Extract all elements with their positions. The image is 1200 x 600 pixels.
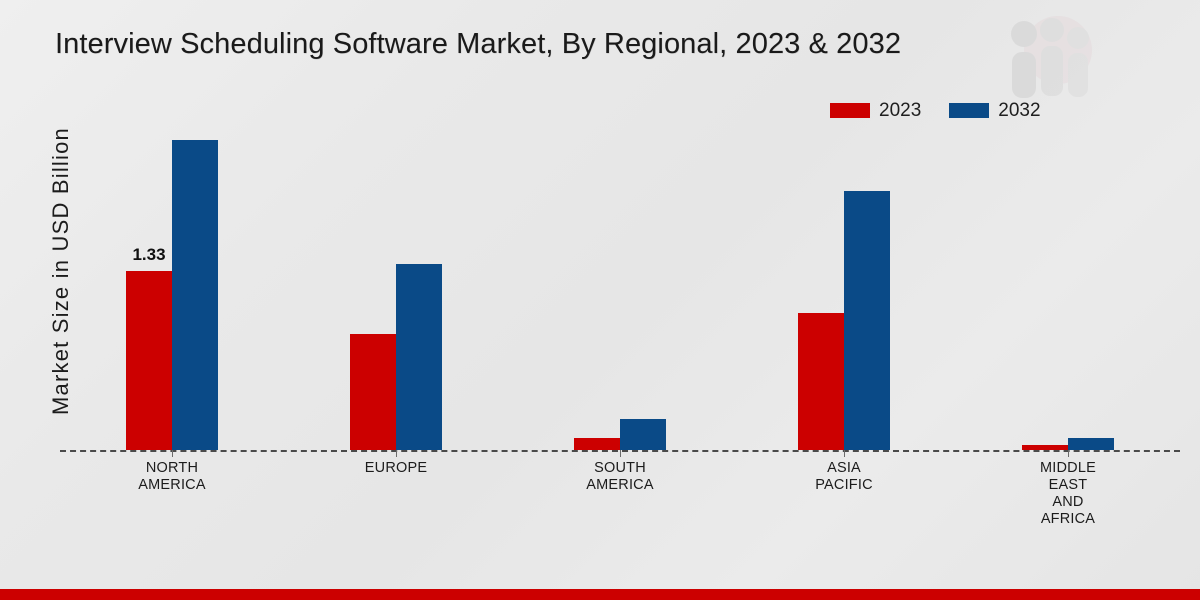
bar-group-europe: EUROPE [284, 120, 508, 450]
x-label-middle-east-and-africa: MIDDLE EAST AND AFRICA [1040, 460, 1096, 528]
x-tick-europe [396, 450, 397, 457]
legend-item-2023[interactable]: 2023 [830, 101, 921, 120]
bottom-accent-band [0, 589, 1200, 600]
bar-2023-south-america[interactable] [574, 438, 620, 450]
bar-group-north-america: 1.33 NORTH AMERICA [60, 120, 284, 450]
bar-2023-middle-east-and-africa[interactable] [1022, 445, 1068, 450]
bar-2023-asia-pacific[interactable] [798, 313, 844, 450]
brand-watermark-icon [1000, 8, 1092, 112]
x-label-asia-pacific: ASIA PACIFIC [815, 460, 873, 494]
x-label-south-america: SOUTH AMERICA [586, 460, 653, 494]
plot-area: 1.33 NORTH AMERICA EUROPE [60, 120, 1180, 450]
bar-2023-north-america[interactable]: 1.33 [126, 271, 172, 450]
bar-2032-asia-pacific[interactable] [844, 191, 890, 450]
x-label-north-america: NORTH AMERICA [138, 460, 205, 494]
bar-group-south-america: SOUTH AMERICA [508, 120, 732, 450]
legend-label-2032: 2032 [998, 101, 1040, 120]
bars-north-america: 1.33 [126, 120, 218, 450]
chart-legend: 2023 2032 [830, 101, 1041, 120]
x-tick-middle-east-and-africa [1068, 450, 1069, 457]
legend-label-2023: 2023 [879, 101, 921, 120]
x-label-europe: EUROPE [365, 460, 427, 477]
bar-2032-north-america[interactable] [172, 140, 218, 450]
legend-swatch-2032 [949, 103, 989, 118]
bars-middle-east-and-africa [1022, 120, 1114, 450]
x-tick-north-america [172, 450, 173, 457]
bar-2032-europe[interactable] [396, 264, 442, 450]
bars-europe [350, 120, 442, 450]
bar-2032-south-america[interactable] [620, 419, 666, 450]
legend-item-2032[interactable]: 2032 [949, 101, 1040, 120]
bar-value-2023-north-america: 1.33 [132, 245, 165, 265]
bar-groups: 1.33 NORTH AMERICA EUROPE [60, 120, 1180, 450]
bar-2023-europe[interactable] [350, 334, 396, 450]
bar-group-asia-pacific: ASIA PACIFIC [732, 120, 956, 450]
x-tick-asia-pacific [844, 450, 845, 457]
chart-title: Interview Scheduling Software Market, By… [55, 28, 901, 61]
chart-canvas: Interview Scheduling Software Market, By… [0, 0, 1200, 600]
legend-swatch-2023 [830, 103, 870, 118]
bar-group-middle-east-and-africa: MIDDLE EAST AND AFRICA [956, 120, 1180, 450]
bar-2032-middle-east-and-africa[interactable] [1068, 438, 1114, 450]
bars-asia-pacific [798, 120, 890, 450]
bars-south-america [574, 120, 666, 450]
x-tick-south-america [620, 450, 621, 457]
